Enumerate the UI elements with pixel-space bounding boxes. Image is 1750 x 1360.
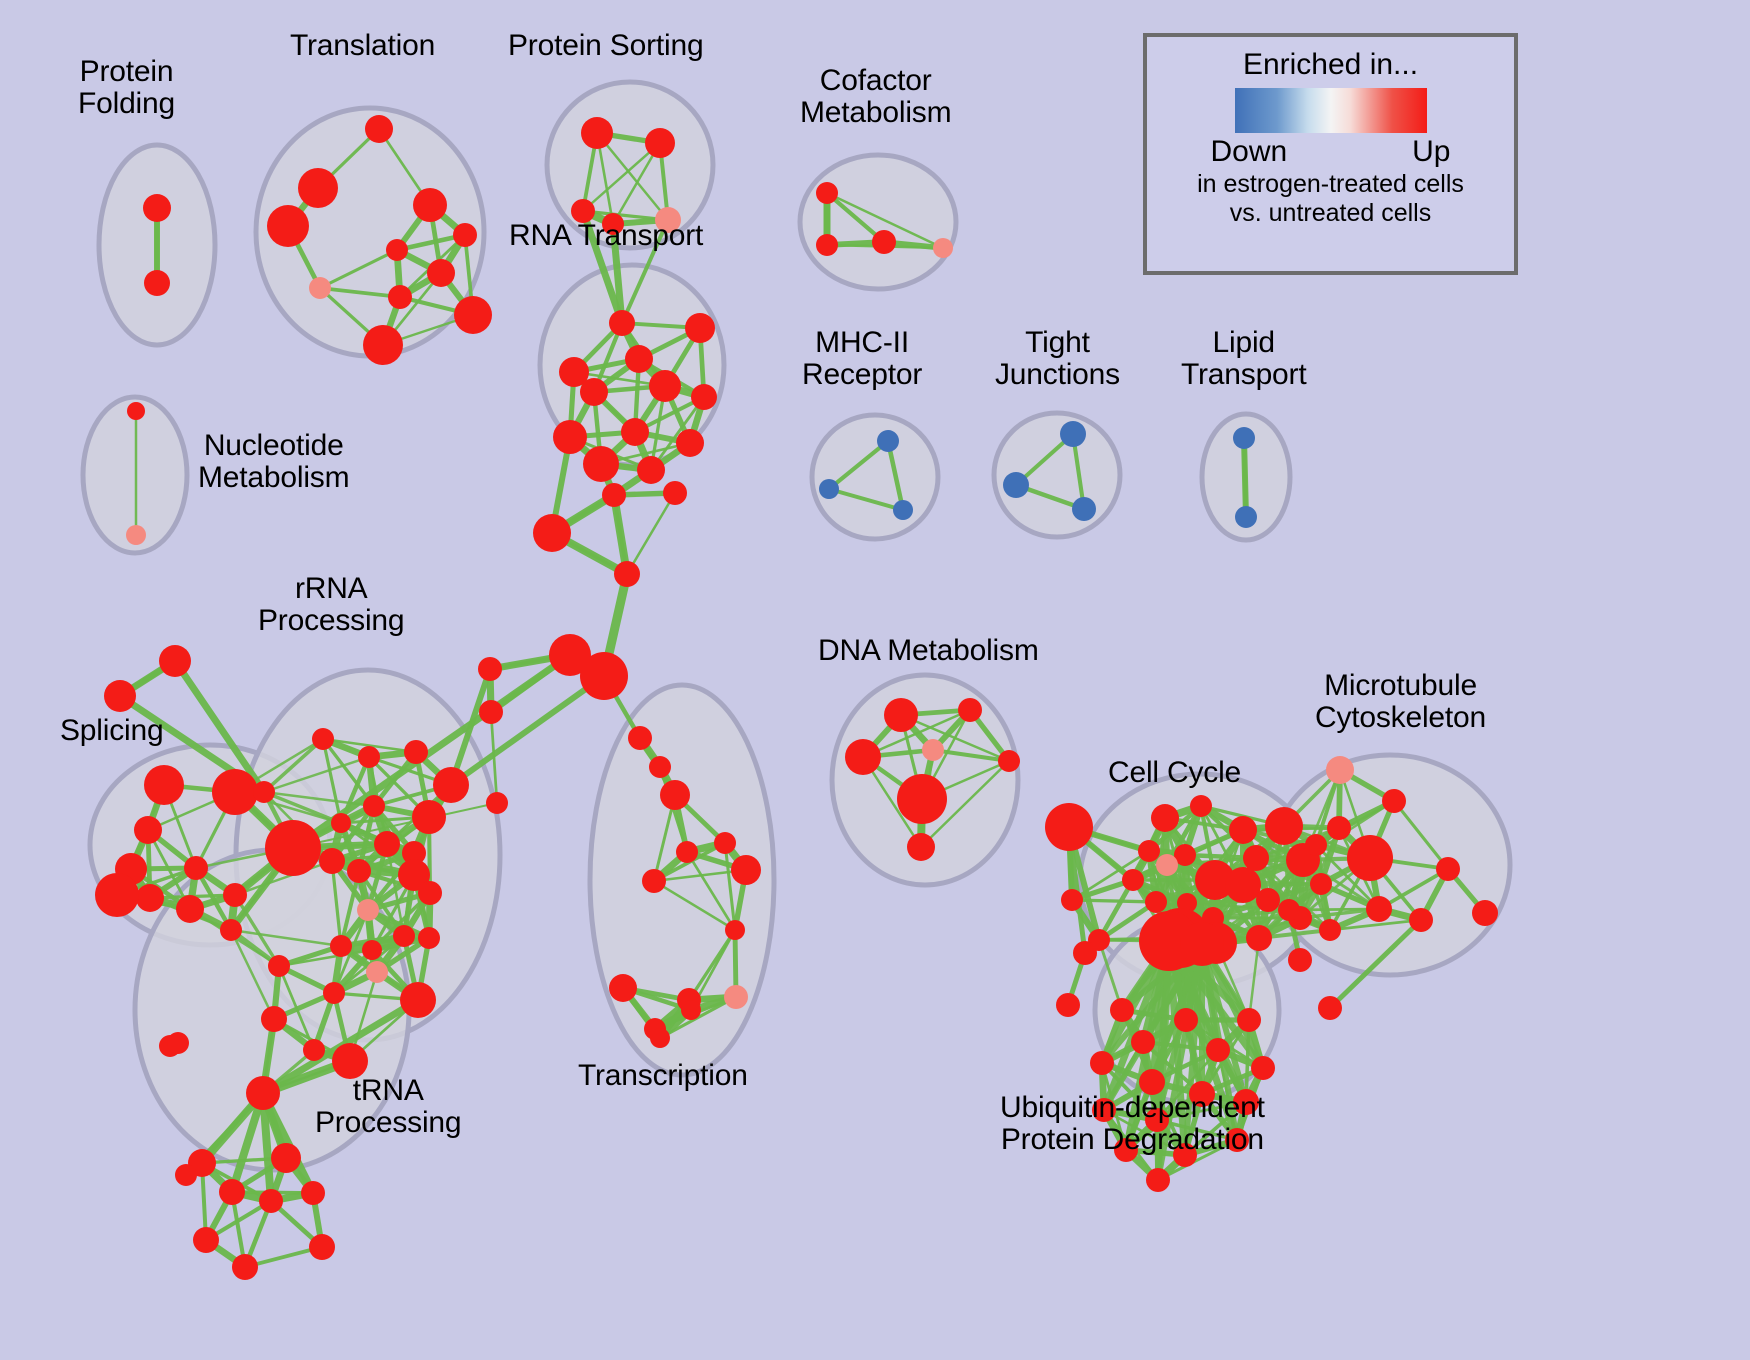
gene-set-node[interactable] [193,1227,219,1253]
gene-set-node[interactable] [685,313,715,343]
gene-set-node[interactable] [312,728,334,750]
cluster-label-tight-junctions: Tight Junctions [995,327,1120,391]
legend-caption-line2: vs. untreated cells [1230,199,1432,227]
legend-caption-line1: in estrogen-treated cells [1197,170,1464,198]
gene-set-node[interactable] [1409,908,1433,932]
gene-set-node[interactable] [220,919,242,941]
gene-set-node[interactable] [1305,834,1327,856]
gene-set-node[interactable] [1288,948,1312,972]
gene-set-node[interactable] [1326,756,1354,784]
gene-set-node[interactable] [1122,869,1144,891]
gene-set-node[interactable] [1003,472,1029,498]
gene-set-node[interactable] [271,1143,301,1173]
cluster-label-ubiquitin-protein-degradation: Ubiquitin-dependent Protein Degradation [1000,1092,1265,1156]
gene-set-node[interactable] [1256,888,1280,912]
gene-set-node[interactable] [104,680,136,712]
gene-set-node[interactable] [268,955,290,977]
gene-set-node[interactable] [1347,835,1393,881]
gene-set-node[interactable] [357,899,379,921]
gene-set-node[interactable] [907,833,935,861]
gene-set-node[interactable] [877,430,899,452]
gene-set-node[interactable] [637,456,665,484]
gene-set-node[interactable] [219,1179,245,1205]
gene-set-node[interactable] [454,296,492,334]
gene-set-node[interactable] [319,848,345,874]
gene-set-node[interactable] [725,920,745,940]
gene-set-node[interactable] [1472,900,1498,926]
gene-set-node[interactable] [1366,896,1392,922]
gene-set-node[interactable] [358,746,380,768]
gene-set-node[interactable] [645,128,675,158]
cluster-label-transcription: Transcription [578,1060,748,1092]
edge [451,676,604,785]
gene-set-node[interactable] [628,726,652,750]
gene-set-node[interactable] [1382,789,1406,813]
gene-set-node[interactable] [1145,891,1167,913]
gene-set-node[interactable] [691,384,717,410]
gene-set-node[interactable] [660,780,690,810]
gene-set-node[interactable] [232,1254,258,1280]
gene-set-node[interactable] [816,234,838,256]
gene-set-node[interactable] [144,270,170,296]
gene-set-node[interactable] [388,285,412,309]
edge [1244,438,1246,517]
gene-set-node[interactable] [580,652,628,700]
gene-set-node[interactable] [580,378,608,406]
cluster-label-cell-cycle: Cell Cycle [1108,757,1241,789]
gene-set-node[interactable] [681,1000,701,1020]
gene-set-node[interactable] [309,277,331,299]
gene-set-node[interactable] [845,739,881,775]
cluster-hull-mhc-ii-receptor[interactable] [812,415,938,539]
gene-set-node[interactable] [347,859,371,883]
gene-set-node[interactable] [298,168,338,208]
legend-right-label: Up [1412,135,1450,169]
gene-set-node[interactable] [872,230,896,254]
gene-set-node[interactable] [212,769,258,815]
gene-set-node[interactable] [922,739,944,761]
cluster-label-splicing: Splicing [60,715,163,747]
gene-set-node[interactable] [1251,1056,1275,1080]
gene-set-node[interactable] [1229,816,1257,844]
gene-set-node[interactable] [816,182,838,204]
gene-set-node[interactable] [261,1006,287,1032]
gene-set-node[interactable] [143,194,171,222]
cluster-label-protein-sorting: Protein Sorting [508,30,703,62]
gene-set-node[interactable] [1061,889,1083,911]
legend-left-label: Down [1211,135,1288,169]
gene-set-node[interactable] [253,781,275,803]
cluster-label-dna-metabolism: DNA Metabolism [818,635,1039,667]
gene-set-node[interactable] [614,561,640,587]
gene-set-node[interactable] [159,645,191,677]
gene-set-node[interactable] [621,418,649,446]
gene-set-node[interactable] [642,869,666,893]
gene-set-node[interactable] [1235,506,1257,528]
gene-set-node[interactable] [583,446,619,482]
gene-set-node[interactable] [362,940,382,960]
gene-set-node[interactable] [126,525,146,545]
gene-set-node[interactable] [650,1028,670,1048]
gene-set-node[interactable] [486,792,508,814]
gene-set-node[interactable] [413,188,447,222]
gene-set-node[interactable] [884,698,918,732]
gene-set-node[interactable] [1436,857,1460,881]
gene-set-node[interactable] [649,756,671,778]
gene-set-node[interactable] [393,925,415,947]
gene-set-node[interactable] [433,767,469,803]
cluster-label-microtubule-cytoskeleton: Microtubule Cytoskeleton [1315,670,1486,734]
gene-set-node[interactable] [95,873,139,917]
gene-set-node[interactable] [1246,925,1272,951]
gene-set-node[interactable] [1237,1008,1261,1032]
gene-set-node[interactable] [386,239,408,261]
gene-set-node[interactable] [404,740,428,764]
gene-set-node[interactable] [184,856,208,880]
cluster-label-mhc-ii-receptor: MHC-II Receptor [802,327,922,391]
gene-set-node[interactable] [363,325,403,365]
gene-set-node[interactable] [363,795,385,817]
cluster-label-lipid-transport: Lipid Transport [1181,327,1306,391]
gene-set-node[interactable] [127,402,145,420]
gene-set-node[interactable] [998,750,1020,772]
gene-set-node[interactable] [609,974,637,1002]
gene-set-node[interactable] [1174,1008,1198,1032]
gene-set-node[interactable] [1243,845,1269,871]
gene-set-node[interactable] [144,765,184,805]
legend-color-gradient-bar [1235,88,1427,133]
legend-title: Enriched in... [1243,48,1418,82]
gene-set-node[interactable] [176,895,204,923]
gene-set-node[interactable] [602,483,626,507]
gene-set-node[interactable] [134,816,162,844]
gene-set-node[interactable] [731,855,761,885]
gene-set-node[interactable] [1180,922,1224,966]
gene-set-node[interactable] [259,1189,283,1213]
gene-set-node[interactable] [412,800,446,834]
gene-set-node[interactable] [330,935,352,957]
gene-set-node[interactable] [1206,1038,1230,1062]
gene-set-node[interactable] [1151,804,1179,832]
gene-set-node[interactable] [1090,1051,1114,1075]
legend-panel: Enriched in... Down Up in estrogen-treat… [1143,33,1518,275]
gene-set-node[interactable] [365,115,393,143]
gene-set-node[interactable] [663,481,687,505]
gene-set-node[interactable] [893,500,913,520]
gene-set-node[interactable] [136,884,164,912]
gene-set-node[interactable] [1072,497,1096,521]
gene-set-node[interactable] [1060,421,1086,447]
gene-set-node[interactable] [553,420,587,454]
gene-set-node[interactable] [676,841,698,863]
gene-set-node[interactable] [1233,427,1255,449]
gene-set-node[interactable] [1278,899,1300,921]
gene-set-node[interactable] [366,961,388,983]
gene-set-node[interactable] [609,310,635,336]
gene-set-node[interactable] [1265,807,1303,845]
gene-set-node[interactable] [427,259,455,287]
gene-set-node[interactable] [418,881,442,905]
cluster-label-translation: Translation [290,30,435,62]
cluster-label-protein-folding: Protein Folding [78,56,175,120]
edge [627,493,675,574]
gene-set-node[interactable] [246,1076,280,1110]
gene-set-node[interactable] [1190,795,1212,817]
gene-set-node[interactable] [223,883,247,907]
gene-set-node[interactable] [1327,816,1351,840]
gene-set-node[interactable] [374,831,400,857]
network-diagram-canvas: Protein FoldingTranslationProtein Sortin… [0,0,1750,1360]
cluster-label-rrna-processing: rRNA Processing [258,573,404,637]
gene-set-node[interactable] [1156,854,1178,876]
cluster-label-cofactor-metabolism: Cofactor Metabolism [800,65,951,129]
gene-set-node[interactable] [418,927,440,949]
gene-set-node[interactable] [1138,840,1160,862]
gene-set-node[interactable] [581,117,613,149]
gene-set-node[interactable] [714,832,736,854]
gene-set-node[interactable] [1318,996,1342,1020]
gene-set-node[interactable] [400,982,436,1018]
gene-set-node[interactable] [478,657,502,681]
gene-set-node[interactable] [1056,993,1080,1017]
gene-set-node[interactable] [301,1181,325,1205]
gene-set-node[interactable] [479,700,503,724]
gene-set-node[interactable] [267,205,309,247]
gene-set-node[interactable] [1131,1030,1155,1054]
cluster-hull-cofactor-metabolism[interactable] [800,155,956,289]
gene-set-node[interactable] [958,698,982,722]
gene-set-node[interactable] [1045,803,1093,851]
gene-set-node[interactable] [303,1039,325,1061]
gene-set-node[interactable] [1225,867,1261,903]
gene-set-node[interactable] [676,429,704,457]
gene-set-node[interactable] [625,345,653,373]
gene-set-node[interactable] [265,820,321,876]
gene-set-node[interactable] [323,982,345,1004]
gene-set-node[interactable] [1319,919,1341,941]
gene-set-node[interactable] [649,370,681,402]
gene-set-node[interactable] [1310,873,1332,895]
cluster-label-trna-processing: tRNA Processing [315,1075,461,1139]
gene-set-node[interactable] [1110,998,1134,1022]
cluster-label-nucleotide-metabolism: Nucleotide Metabolism [198,430,349,494]
gene-set-node[interactable] [1073,941,1097,965]
cluster-label-rna-transport: RNA Transport [509,220,703,252]
gene-set-node[interactable] [309,1234,335,1260]
gene-set-node[interactable] [1146,1168,1170,1192]
gene-set-node[interactable] [819,479,839,499]
gene-set-node[interactable] [167,1032,189,1054]
gene-set-node[interactable] [533,514,571,552]
gene-set-node[interactable] [933,238,953,258]
gene-set-node[interactable] [724,985,748,1009]
gene-set-node[interactable] [331,813,351,833]
gene-set-node[interactable] [175,1164,197,1186]
gene-set-node[interactable] [897,774,947,824]
gene-set-node[interactable] [453,223,477,247]
